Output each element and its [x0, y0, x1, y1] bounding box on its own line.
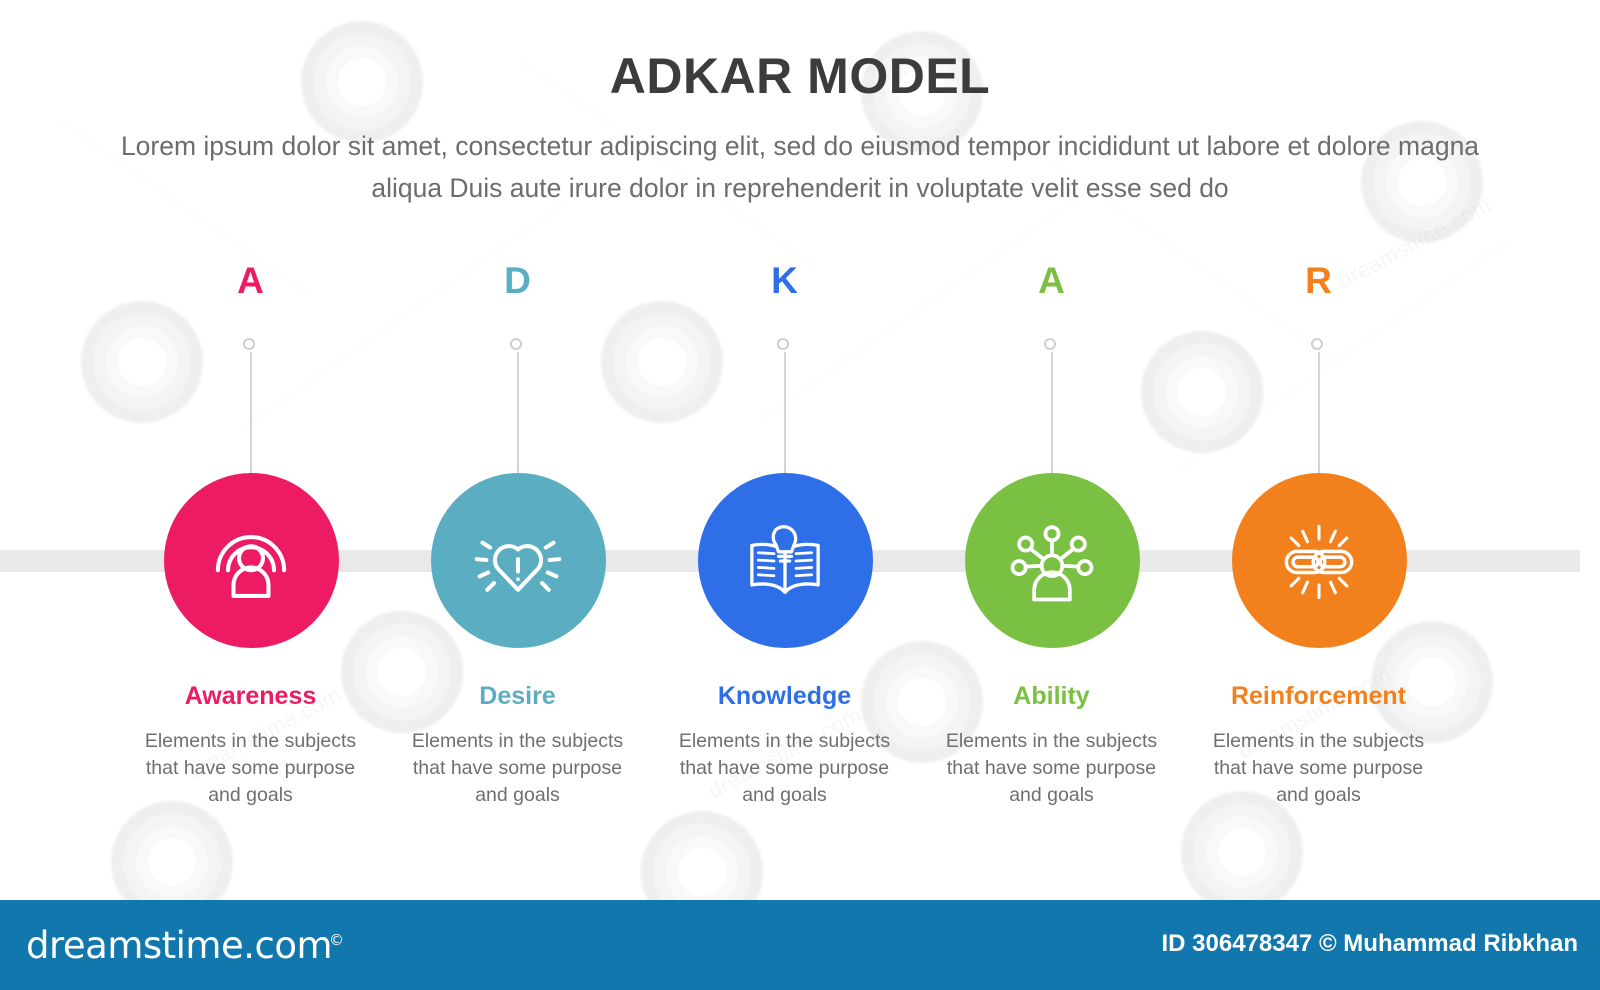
infographic-canvas: dreamstime.com dreamstime.com dreamstime…	[0, 0, 1600, 990]
header: ADKAR MODEL Lorem ipsum dolor sit amet, …	[0, 0, 1600, 209]
step-description: Elements in the subjects that have some …	[1198, 728, 1440, 809]
connector-knob-icon	[243, 338, 255, 350]
connector-knob-icon	[1311, 338, 1323, 350]
book-lightbulb-icon	[739, 515, 831, 607]
step-letter: D	[384, 262, 651, 299]
step-letter: K	[651, 262, 918, 299]
broadcast-person-icon	[205, 515, 297, 607]
step-description: Elements in the subjects that have some …	[664, 728, 906, 809]
step-bubble-awareness[interactable]	[164, 473, 339, 648]
step-label: Desire	[384, 683, 651, 711]
step-bubble-reinforcement[interactable]	[1232, 473, 1407, 648]
brand-text: dreamstime.com	[26, 924, 332, 967]
page-subtitle: Lorem ipsum dolor sit amet, consectetur …	[100, 125, 1500, 209]
step-bubble-ability[interactable]	[965, 473, 1140, 648]
step-letter: R	[1185, 262, 1452, 299]
connector-knob-icon	[1044, 338, 1056, 350]
registered-mark-icon: ©	[329, 931, 344, 949]
step-bubble-knowledge[interactable]	[698, 473, 873, 648]
connector-knob-icon	[777, 338, 789, 350]
step-label: Reinforcement	[1185, 683, 1452, 711]
footer-bar: dreamstime.com© ID 306478347 © Muhammad …	[0, 900, 1600, 990]
step-label: Ability	[918, 683, 1185, 711]
step-bubble-desire[interactable]	[431, 473, 606, 648]
step-label: Awareness	[117, 683, 384, 711]
connector-knob-icon	[510, 338, 522, 350]
step-description: Elements in the subjects that have some …	[931, 728, 1173, 809]
dreamstime-logo[interactable]: dreamstime.com©	[26, 924, 344, 967]
chain-link-icon	[1271, 513, 1367, 609]
step-label: Knowledge	[651, 683, 918, 711]
page-title: ADKAR MODEL	[0, 0, 1600, 105]
heart-alert-icon	[470, 513, 566, 609]
image-credit: ID 306478347 © Muhammad Ribkhan	[1161, 930, 1578, 958]
step-description: Elements in the subjects that have some …	[397, 728, 639, 809]
person-network-icon	[1005, 514, 1099, 608]
step-letter: A	[918, 262, 1185, 299]
step-description: Elements in the subjects that have some …	[130, 728, 372, 809]
step-letter: A	[117, 262, 384, 299]
